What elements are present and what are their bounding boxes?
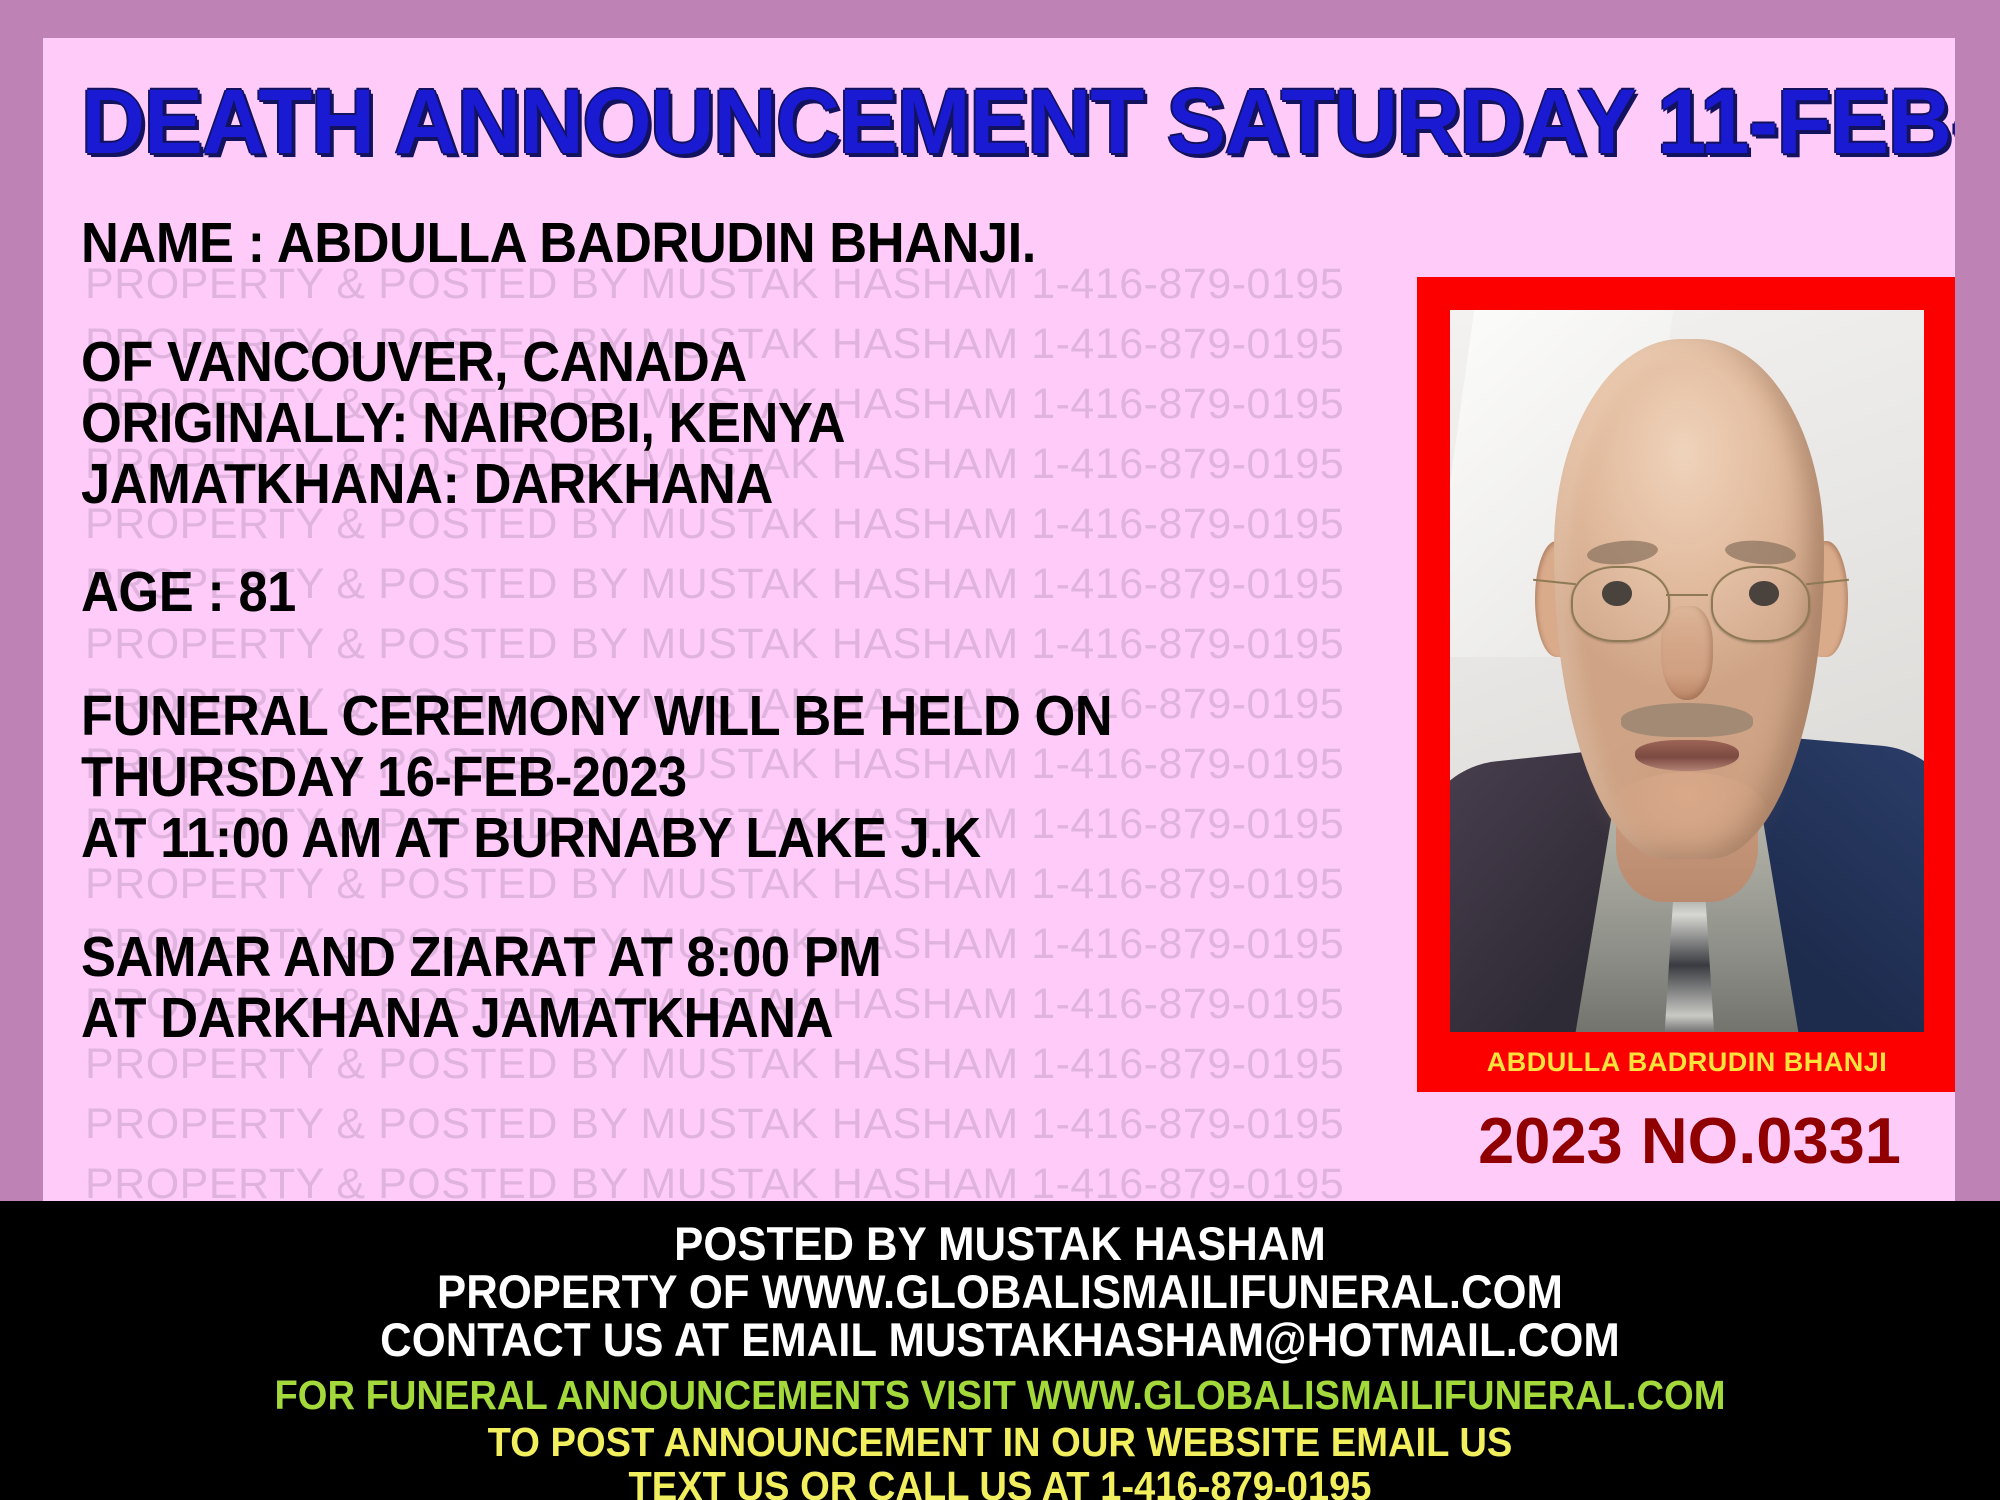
detail-jamatkhana: JAMATKHANA: DARKHANA	[81, 454, 1231, 515]
footer-bar: POSTED BY MUSTAK HASHAM PROPERTY OF WWW.…	[0, 1201, 2000, 1500]
photo-caption: ABDULLA BADRUDIN BHANJI	[1417, 1032, 1955, 1092]
funeral-line-3: AT 11:00 AM AT BURNABY LAKE J.K	[81, 808, 1231, 869]
eyeglass-bridge	[1666, 594, 1709, 596]
watermark-line: PROPERTY & POSTED BY MUSTAK HASHAM 1-416…	[85, 1100, 1344, 1149]
detail-origin: ORIGINALLY: NAIROBI, KENYA	[81, 393, 1231, 454]
portrait-photo-block: ABDULLA BADRUDIN BHANJI	[1417, 277, 1955, 1092]
chin	[1606, 772, 1767, 859]
announcement-number: 2023 NO.0331	[1417, 1106, 1955, 1176]
funeral-line-2: THURSDAY 16-FEB-2023	[81, 747, 1231, 808]
spacer	[81, 869, 1331, 927]
portrait-photo	[1450, 310, 1924, 1032]
detail-name: NAME : ABDULLA BADRUDIN BHANJI.	[81, 213, 1231, 274]
samar-line-2: AT DARKHANA JAMATKHANA	[81, 988, 1231, 1049]
samar-line-1: SAMAR AND ZIARAT AT 8:00 PM	[81, 927, 1231, 988]
spacer	[81, 623, 1331, 686]
spacer	[81, 274, 1331, 332]
footer-property-of: PROPERTY OF WWW.GLOBALISMAILIFUNERAL.COM	[70, 1267, 1930, 1317]
moustache	[1621, 703, 1754, 736]
detail-age: AGE : 81	[81, 562, 1231, 623]
photo-red-frame	[1417, 277, 1955, 1092]
watermark-line: PROPERTY & POSTED BY MUSTAK HASHAM 1-416…	[85, 1160, 1344, 1201]
details-column: NAME : ABDULLA BADRUDIN BHANJI. OF VANCO…	[81, 213, 1331, 1049]
detail-city: OF VANCOUVER, CANADA	[81, 332, 1231, 393]
nose	[1661, 606, 1713, 700]
eyeglass-lens-left	[1571, 566, 1670, 642]
footer-to-post: TO POST ANNOUNCEMENT IN OUR WEBSITE EMAI…	[70, 1419, 1930, 1465]
spacer	[81, 515, 1331, 562]
footer-visit-website: FOR FUNERAL ANNOUNCEMENTS VISIT WWW.GLOB…	[70, 1371, 1930, 1419]
death-announcement-poster: PROPERTY & POSTED BY MUSTAK HASHAM 1-416…	[0, 0, 2000, 1500]
funeral-line-1: FUNERAL CEREMONY WILL BE HELD ON	[81, 686, 1231, 747]
eyeglass-lens-right	[1711, 566, 1810, 642]
footer-phone: TEXT US OR CALL US AT 1-416-879-0195	[70, 1463, 1930, 1500]
announcement-panel: PROPERTY & POSTED BY MUSTAK HASHAM 1-416…	[43, 38, 1955, 1201]
footer-contact: CONTACT US AT EMAIL MUSTAKHASHAM@HOTMAIL…	[70, 1315, 1930, 1365]
footer-posted-by: POSTED BY MUSTAK HASHAM	[70, 1219, 1930, 1269]
page-title: DEATH ANNOUNCEMENT SATURDAY 11-FEB-2023	[81, 76, 1917, 168]
